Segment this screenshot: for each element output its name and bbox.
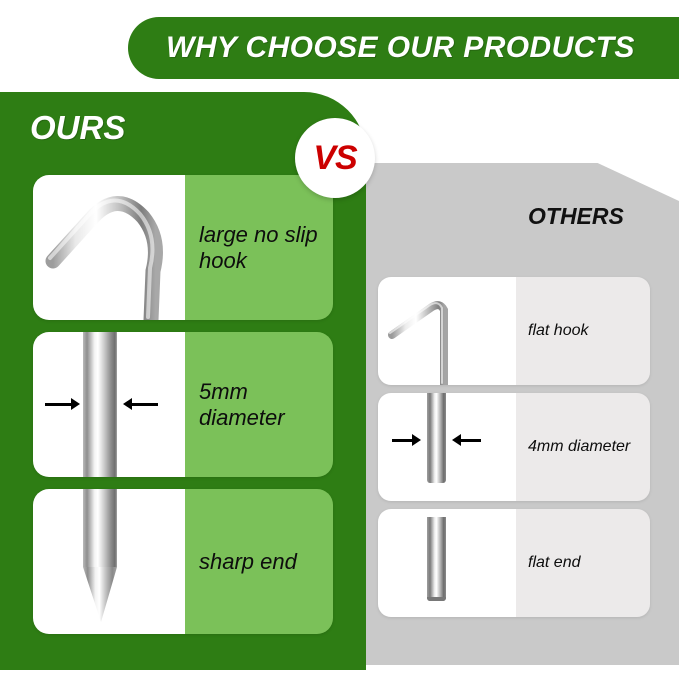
ours-feature-text-2: 5mm diameter: [185, 332, 333, 477]
thin-rod-icon: [378, 393, 516, 501]
others-feature-card-3: flat end: [378, 509, 650, 617]
others-feature-text-3: flat end: [516, 509, 650, 617]
ours-label: OURS: [30, 109, 125, 147]
curved-hook-icon: [33, 175, 185, 320]
others-feature-card-1: flat hook: [378, 277, 650, 385]
others-feature-text-1: flat hook: [516, 277, 650, 385]
thick-rod-icon: [33, 332, 185, 477]
others-feature-card-2: 4mm diameter: [378, 393, 650, 501]
header-banner: WHY CHOOSE OUR PRODUCTS: [128, 17, 679, 79]
comparison-infographic: WHY CHOOSE OUR PRODUCTS OURS OTHERS: [0, 0, 679, 676]
bent-hook-icon: [378, 277, 516, 385]
others-feature-text-2: 4mm diameter: [516, 393, 650, 501]
others-label: OTHERS: [528, 203, 624, 230]
vs-label: VS: [313, 139, 356, 178]
flat-tip-icon: [378, 509, 516, 617]
ours-feature-card-2: 5mm diameter: [33, 332, 333, 477]
ours-feature-card-1: large no slip hook: [33, 175, 333, 320]
page-title: WHY CHOOSE OUR PRODUCTS: [166, 31, 635, 65]
ours-feature-text-3: sharp end: [185, 489, 333, 634]
vs-badge: VS: [295, 118, 375, 198]
ours-feature-card-3: sharp end: [33, 489, 333, 634]
ours-feature-text-1: large no slip hook: [185, 175, 333, 320]
sharp-tip-icon: [33, 489, 185, 634]
